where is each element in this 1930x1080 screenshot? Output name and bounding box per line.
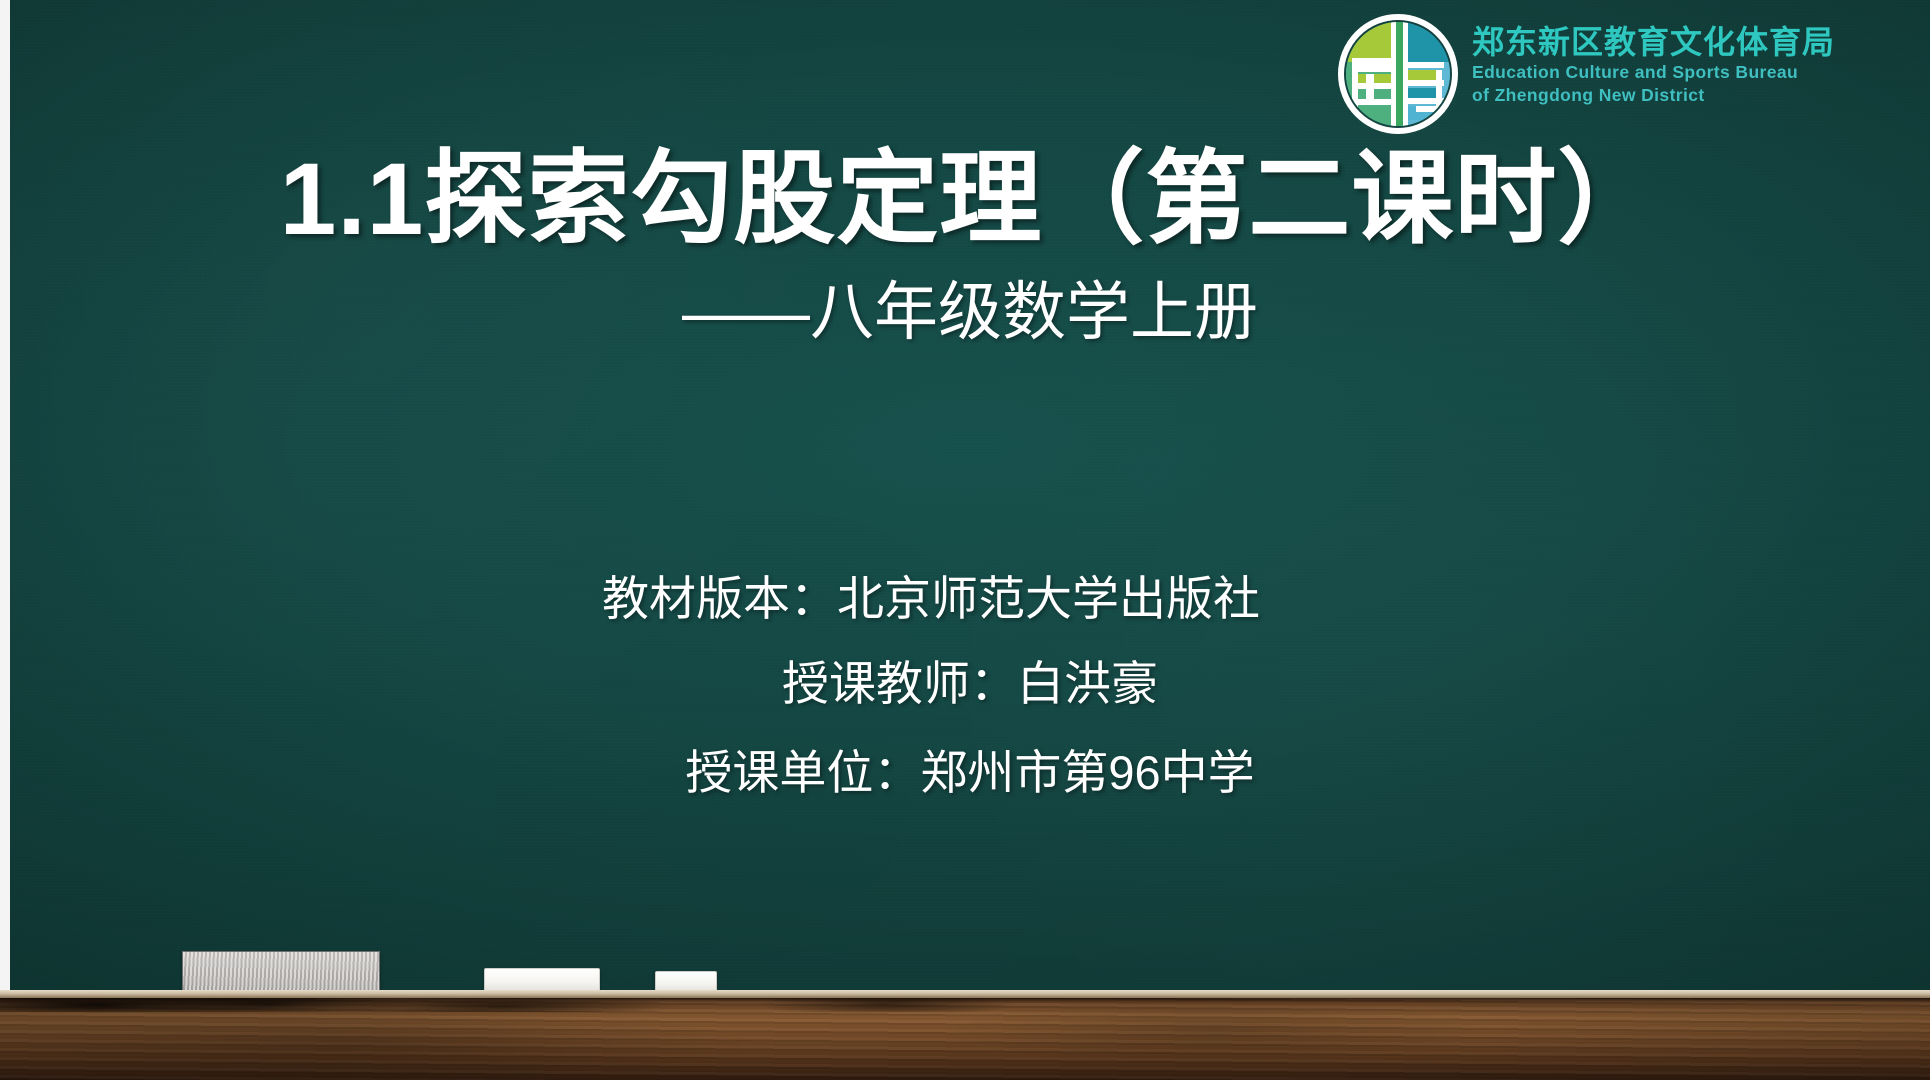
slide-subtitle: ——八年级数学上册 xyxy=(10,274,1930,351)
chalk-tray-wooden-shelf xyxy=(0,998,1930,1080)
slide-main-title: 1.1探索勾股定理（第二课时） xyxy=(10,140,1930,258)
slide-left-margin xyxy=(0,0,10,1080)
meta-school-name: 授课单位：郑州市第96中学 xyxy=(10,749,1930,796)
logo-subtitle-english-line1: Education Culture and Sports Bureau xyxy=(1472,62,1835,83)
zhengdong-education-bureau-emblem-icon xyxy=(1338,14,1458,134)
meta-textbook-version: 教材版本：北京师范大学出版社 xyxy=(0,575,1930,622)
logo-title-chinese: 郑东新区教育文化体育局 xyxy=(1472,26,1835,60)
blackboard-eraser xyxy=(182,951,380,993)
slide-meta-group: 教材版本：北京师范大学出版社 授课教师：白洪豪 授课单位：郑州市第96中学 xyxy=(10,575,1930,796)
chalk-stick-long xyxy=(484,968,600,992)
wood-shadow-edge xyxy=(0,998,1930,1012)
meta-teacher-name: 授课教师：白洪豪 xyxy=(10,660,1930,707)
logo-subtitle-english-line2: of Zhengdong New District xyxy=(1472,85,1835,106)
chalk-tray-lip xyxy=(0,990,1930,998)
organization-logo: 郑东新区教育文化体育局 Education Culture and Sports… xyxy=(1338,14,1835,134)
title-group: 1.1探索勾股定理（第二课时） ——八年级数学上册 xyxy=(10,140,1930,351)
chalk-stick-short xyxy=(655,971,717,992)
logo-text-block: 郑东新区教育文化体育局 Education Culture and Sports… xyxy=(1472,14,1835,106)
presentation-slide: 郑东新区教育文化体育局 Education Culture and Sports… xyxy=(0,0,1930,1080)
